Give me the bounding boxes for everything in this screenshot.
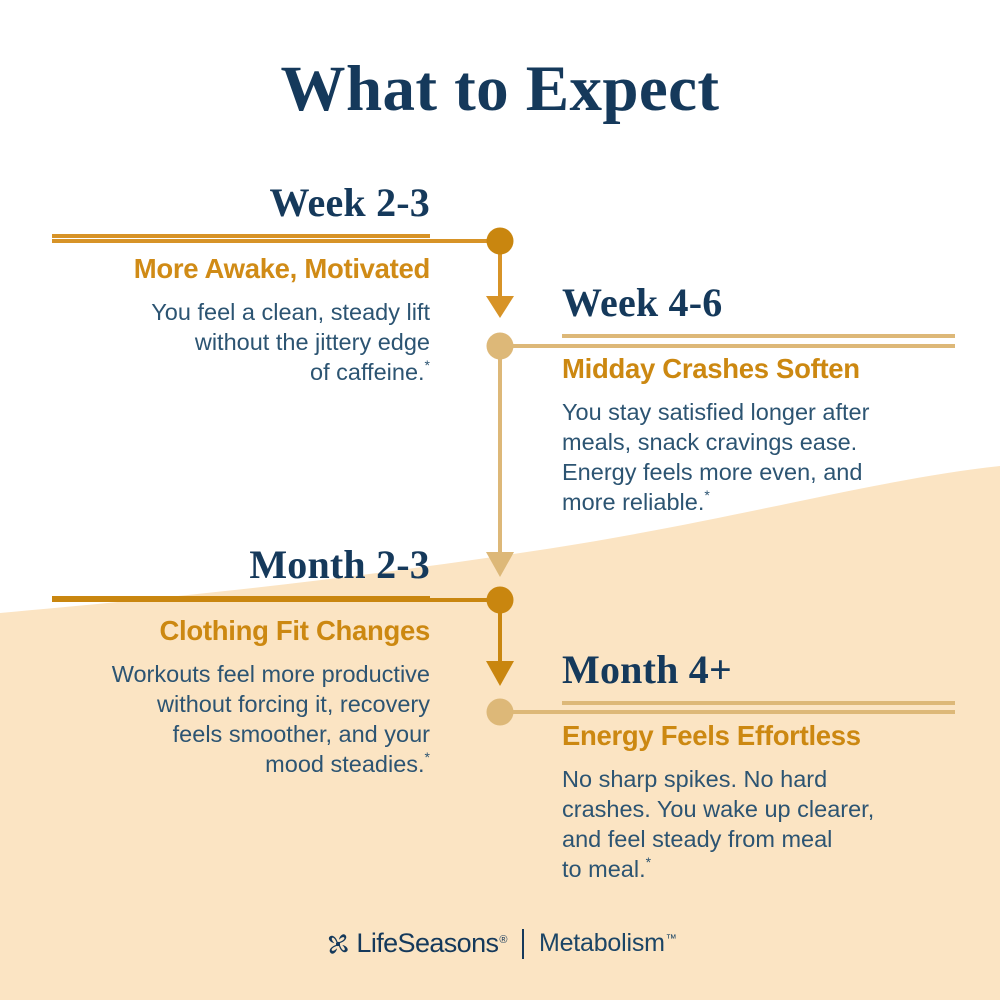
milestone-body-text: Workouts feel more productive without fo… — [112, 661, 430, 777]
milestone-subhead: Clothing Fit Changes — [52, 617, 430, 646]
milestone-body-text: No sharp spikes. No hard crashes. You wa… — [562, 766, 874, 882]
milestone-body: You feel a clean, steady lift without th… — [52, 297, 430, 387]
milestone-subhead: Midday Crashes Soften — [562, 355, 955, 384]
footer-logo: LifeSeasons® Metabolism™ — [0, 928, 1000, 959]
milestone-era-label: Week 4-6 — [562, 283, 955, 323]
milestone-dot — [487, 587, 514, 614]
milestone-dot — [487, 333, 514, 360]
milestone-body: No sharp spikes. No hard crashes. You wa… — [562, 764, 955, 884]
milestone-body-text: You stay satisfied longer after meals, s… — [562, 399, 869, 515]
product-name: Metabolism™ — [539, 929, 677, 958]
milestone-era-label: Week 2-3 — [52, 183, 430, 223]
milestone-block-month-2-3: Month 2-3 Clothing Fit Changes Workouts … — [52, 545, 430, 779]
footnote-marker: * — [704, 487, 709, 503]
logo-divider — [522, 929, 524, 959]
footnote-marker: * — [425, 357, 430, 373]
milestone-block-week-4-6: Week 4-6 Midday Crashes Soften You stay … — [562, 283, 955, 517]
footnote-marker: * — [425, 749, 430, 765]
milestone-rule — [562, 701, 955, 705]
milestone-rule — [52, 596, 430, 600]
milestone-block-month-4-plus: Month 4+ Energy Feels Effortless No shar… — [562, 650, 955, 884]
milestone-dot — [487, 699, 514, 726]
brand-name: LifeSeasons® — [356, 928, 507, 959]
pinwheel-leaf-icon — [323, 929, 353, 959]
footnote-marker: * — [646, 854, 651, 870]
milestone-subhead: Energy Feels Effortless — [562, 722, 955, 751]
milestone-body: You stay satisfied longer after meals, s… — [562, 397, 955, 517]
brand-name-text: LifeSeasons — [356, 928, 498, 958]
registered-mark: ® — [499, 934, 507, 946]
page-title: What to Expect — [0, 52, 1000, 127]
milestone-era-label: Month 2-3 — [52, 545, 430, 585]
milestone-dot — [487, 228, 514, 255]
milestone-subhead: More Awake, Motivated — [52, 255, 430, 284]
milestone-block-week-2-3: Week 2-3 More Awake, Motivated You feel … — [52, 183, 430, 387]
milestone-rule — [562, 334, 955, 338]
milestone-body: Workouts feel more productive without fo… — [52, 659, 430, 779]
milestone-era-label: Month 4+ — [562, 650, 955, 690]
product-name-text: Metabolism — [539, 929, 665, 957]
trademark-mark: ™ — [666, 933, 677, 945]
infographic-canvas: What to Expect Week 2-3 More Awake, Moti… — [0, 0, 1000, 1000]
milestone-rule — [52, 234, 430, 238]
milestone-body-text: You feel a clean, steady lift without th… — [151, 299, 430, 385]
